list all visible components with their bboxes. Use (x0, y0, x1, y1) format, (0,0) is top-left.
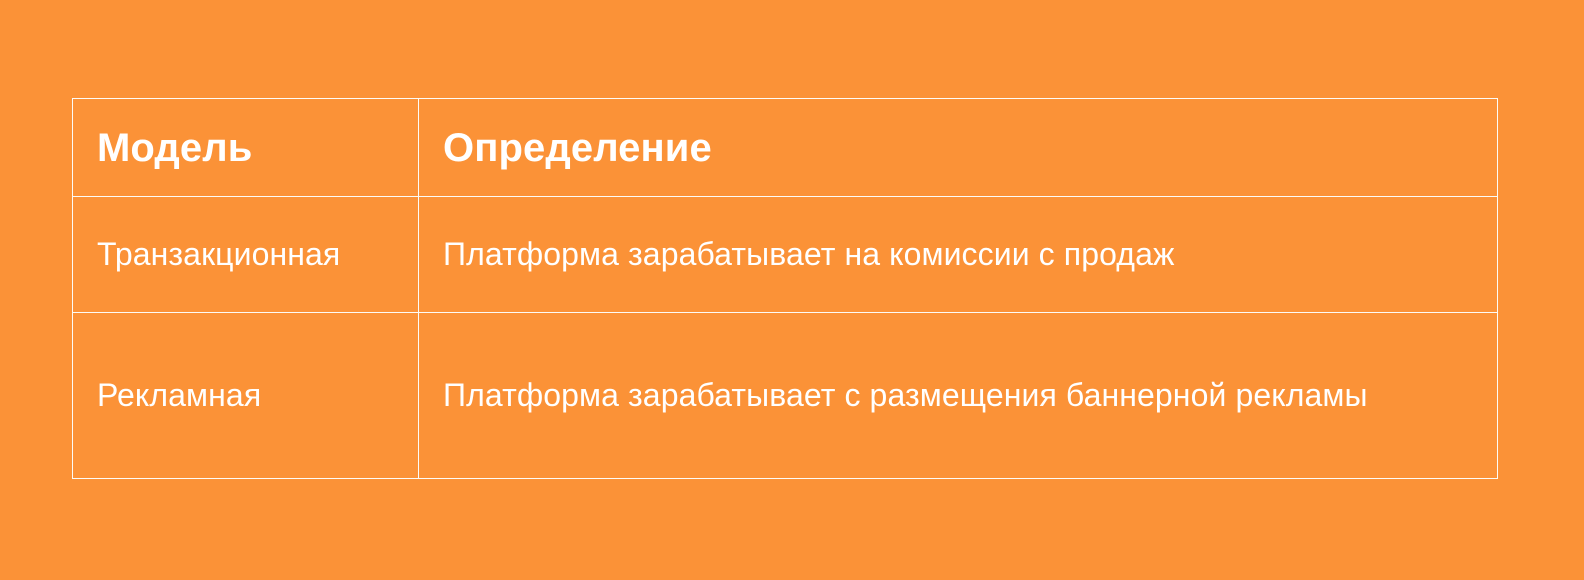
table-row: Рекламная Платформа зарабатывает с разме… (73, 313, 1498, 479)
table-row: Транзакционная Платформа зарабатывает на… (73, 197, 1498, 313)
column-header-definition: Определение (419, 99, 1498, 197)
cell-definition-advertising: Платформа зарабатывает с размещения банн… (419, 313, 1498, 479)
column-header-model: Модель (73, 99, 419, 197)
cell-model-advertising: Рекламная (73, 313, 419, 479)
business-model-table: Модель Определение Транзакционная Платфо… (72, 98, 1498, 479)
comparison-table-container: Модель Определение Транзакционная Платфо… (72, 98, 1498, 479)
table-body: Транзакционная Платформа зарабатывает на… (73, 197, 1498, 479)
table-header-row: Модель Определение (73, 99, 1498, 197)
table-header: Модель Определение (73, 99, 1498, 197)
page-canvas: Модель Определение Транзакционная Платфо… (0, 0, 1584, 580)
cell-model-transactional: Транзакционная (73, 197, 419, 313)
cell-definition-transactional: Платформа зарабатывает на комиссии с про… (419, 197, 1498, 313)
